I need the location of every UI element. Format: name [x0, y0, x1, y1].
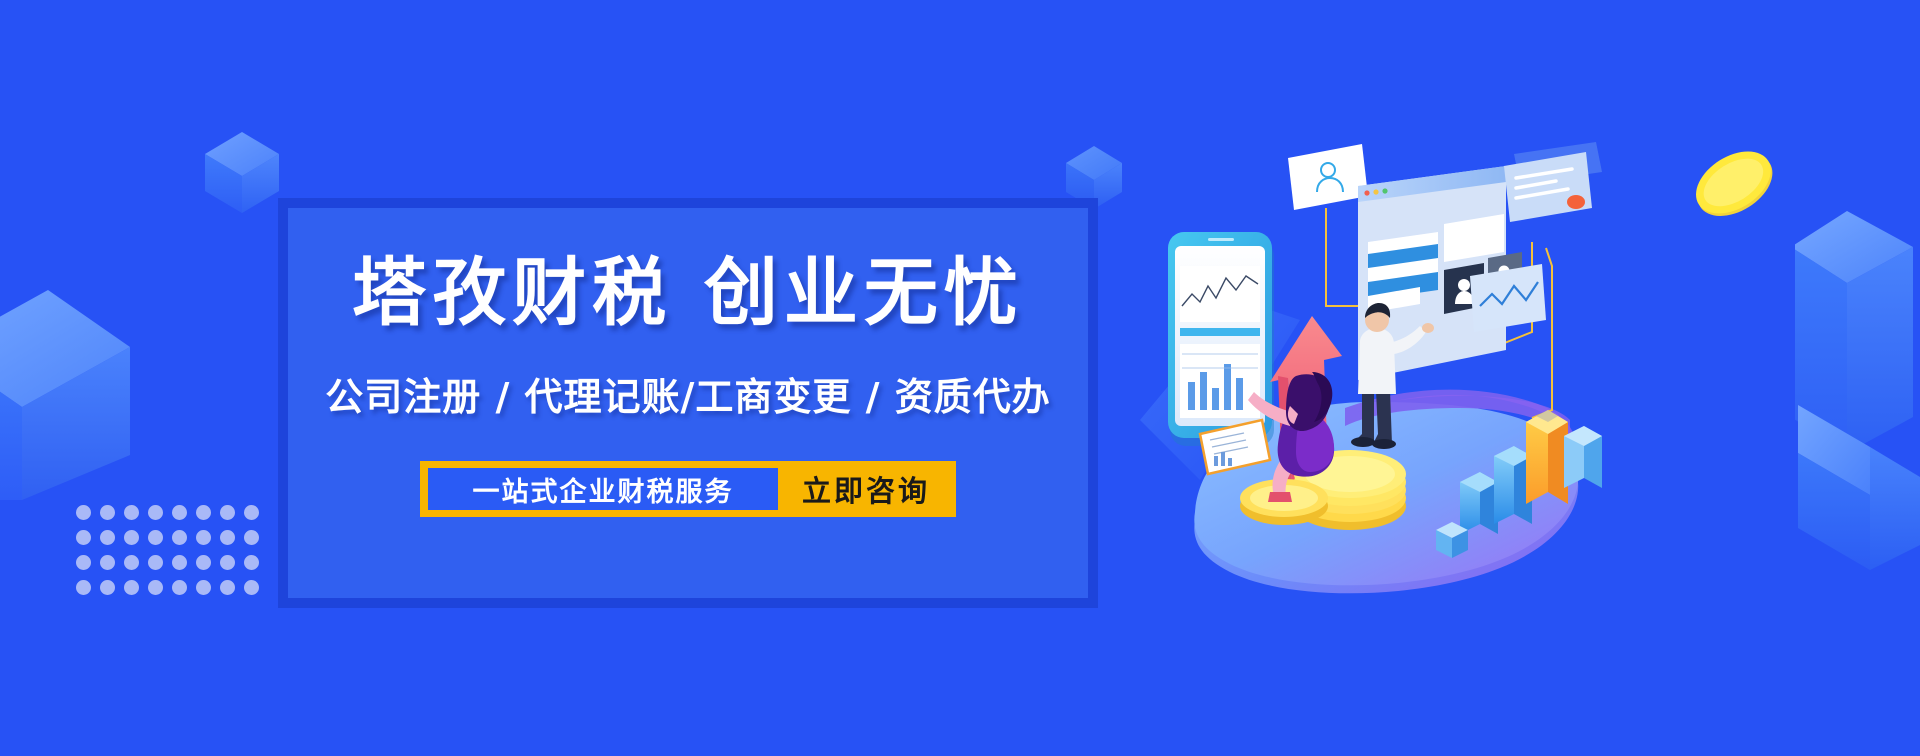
service-list-subtitle: 公司注册 / 代理记账/工商变更 / 资质代办 [325, 366, 1051, 421]
isometric-finance-illustration [1140, 120, 1610, 620]
page-title: 塔孜财税 创业无忧 [352, 256, 1024, 330]
isometric-pillar-icon [0, 235, 130, 500]
dot-grid-decoration [76, 505, 268, 605]
marketing-banner: 塔孜财税 创业无忧 公司注册 / 代理记账/工商变更 / 资质代办 一站式企业财… [0, 0, 1920, 756]
consult-now-button[interactable]: 立即咨询 [778, 461, 956, 517]
isometric-pillar-icon [1795, 185, 1915, 485]
isometric-pillar-icon [1790, 395, 1920, 585]
gold-coin-icon [1690, 140, 1780, 235]
cta-tagline: 一站式企业财税服务 [428, 468, 778, 510]
content-frame: 塔孜财税 创业无忧 公司注册 / 代理记账/工商变更 / 资质代办 一站式企业财… [278, 198, 1098, 608]
isometric-cube-icon [205, 130, 280, 215]
cta-bar: 一站式企业财税服务 立即咨询 [420, 461, 956, 517]
content-frame-inner: 塔孜财税 创业无忧 公司注册 / 代理记账/工商变更 / 资质代办 一站式企业财… [288, 208, 1088, 598]
